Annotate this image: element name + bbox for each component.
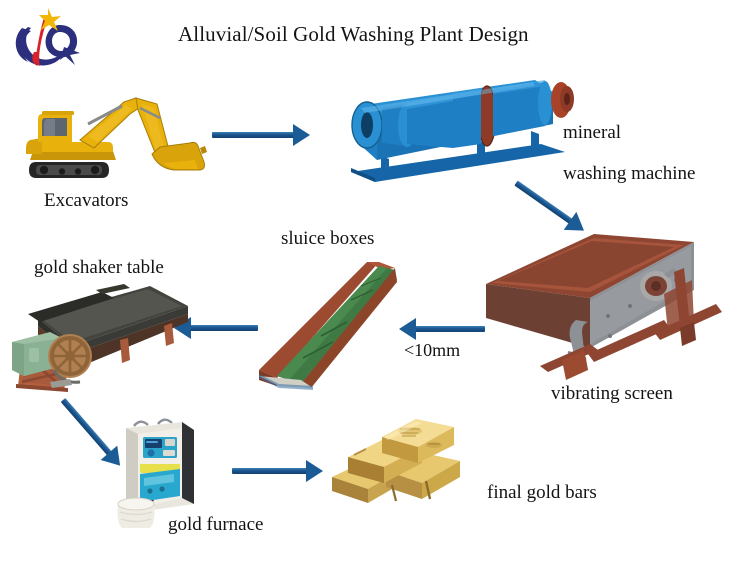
label-mineral: mineral — [563, 122, 621, 144]
page-title: Alluvial/Soil Gold Washing Plant Design — [178, 22, 529, 46]
excavator-illustration — [18, 78, 208, 193]
arrow-furnace-to-goldbars — [232, 460, 324, 482]
company-logo — [8, 8, 86, 70]
label-vibrating-screen: vibrating screen — [551, 383, 673, 405]
node-sluice-boxes — [255, 258, 420, 388]
jq-logo-mark — [8, 8, 86, 70]
arrow-excavator-to-washer — [212, 124, 310, 146]
vibrating-screen-illustration — [478, 228, 743, 378]
label-excavators: Excavators — [44, 190, 128, 212]
node-excavators — [18, 78, 208, 193]
label-washing-machine: washing machine — [563, 163, 695, 185]
node-mineral-washing-machine — [335, 68, 595, 193]
sluice-box-illustration — [255, 258, 420, 388]
label-sluice-boxes: sluice boxes — [281, 228, 374, 250]
diagram-canvas: Alluvial/Soil Gold Washing Plant Design — [0, 0, 750, 563]
gold-bars-illustration — [330, 415, 490, 510]
node-gold-shaker-table — [2, 278, 192, 393]
label-final-gold-bars: final gold bars — [487, 482, 597, 504]
shaker-table-illustration — [2, 278, 192, 393]
trommel-washer-illustration — [335, 68, 595, 193]
label-gold-shaker-table: gold shaker table — [34, 257, 164, 279]
label-gold-furnace: gold furnace — [168, 514, 263, 536]
node-vibrating-screen — [478, 228, 743, 378]
node-final-gold-bars — [330, 415, 490, 510]
